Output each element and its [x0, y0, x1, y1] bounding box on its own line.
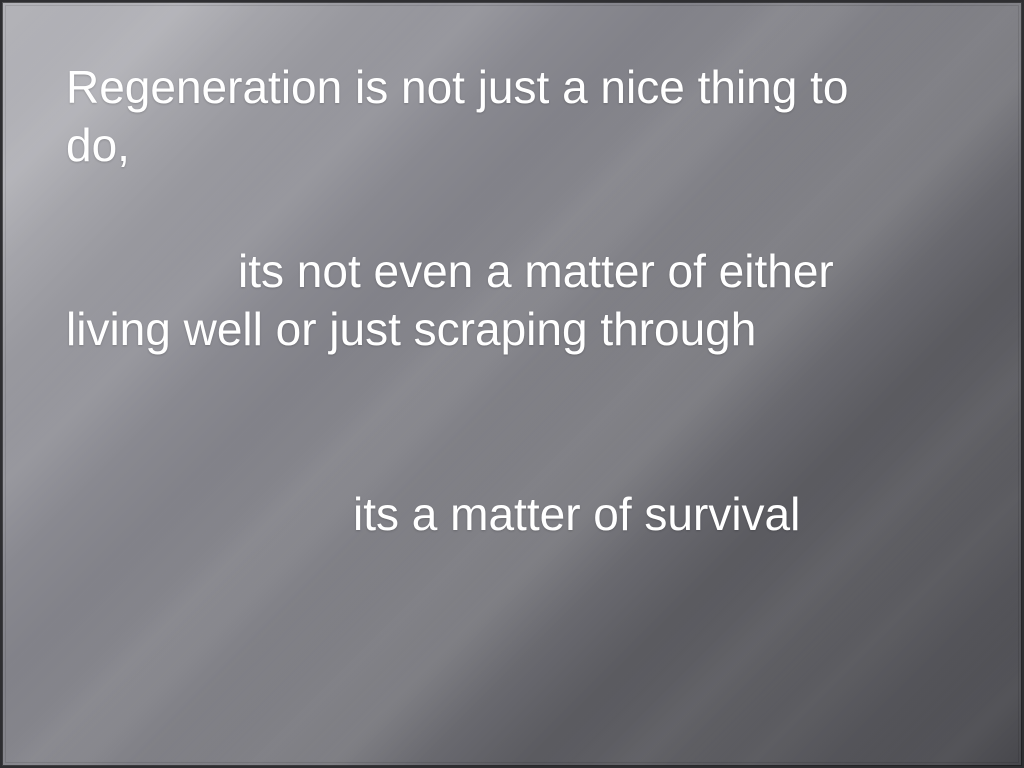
slide-text-line-5: its a matter of survival — [353, 485, 800, 543]
presentation-slide: Regeneration is not just a nice thing to… — [0, 0, 1024, 768]
slide-text-line-1: Regeneration is not just a nice thing to — [66, 58, 849, 116]
slide-text-line-3: its not even a matter of either — [238, 242, 834, 300]
slide-text-line-2: do, — [66, 116, 130, 174]
slide-text-line-4: living well or just scraping through — [66, 300, 756, 358]
slide-content: Regeneration is not just a nice thing to… — [0, 0, 1024, 768]
